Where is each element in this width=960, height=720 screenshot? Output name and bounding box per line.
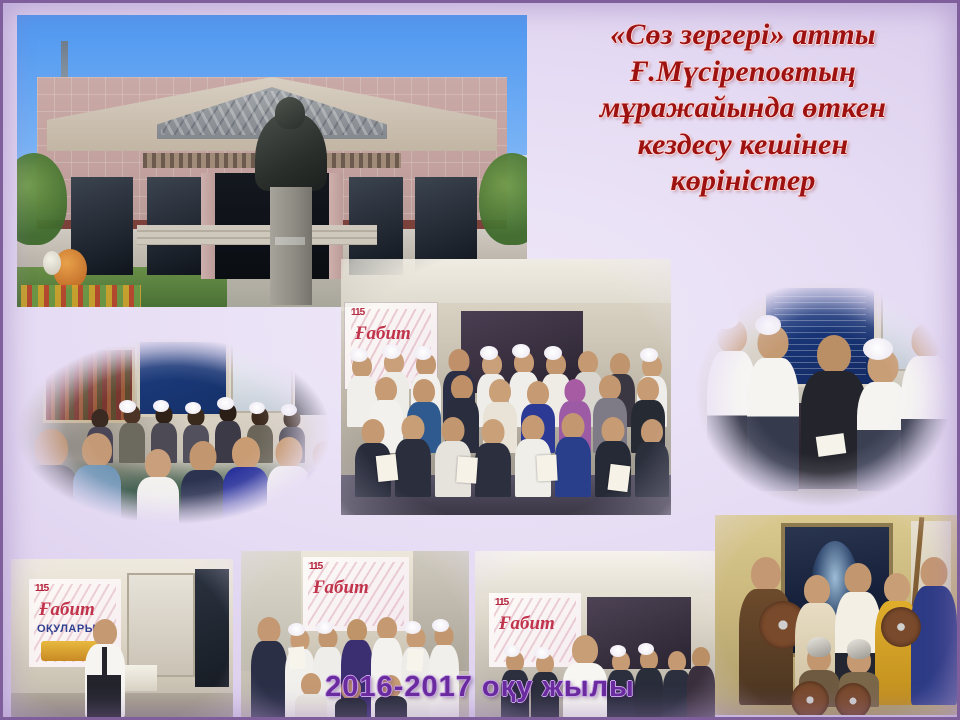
diploma: [376, 454, 399, 482]
person: [223, 437, 269, 529]
banner-number: 115: [495, 597, 508, 608]
page-title: «Сөз зергері» атты Ғ.Мүсіреповтың мұража…: [533, 17, 953, 200]
title-line-5: көріністер: [533, 163, 953, 200]
schoolgirl: [747, 325, 799, 491]
book-being-signed: [816, 433, 847, 457]
person: [181, 441, 225, 529]
shield: [881, 607, 921, 647]
academic-year-caption: 2016-2017 оқу жылы: [3, 671, 957, 704]
banner-name: Ғабит: [355, 323, 411, 345]
person: [25, 429, 77, 525]
presentation-slide: 115 Ғабит: [0, 0, 960, 720]
person: [137, 449, 179, 529]
person: [475, 419, 511, 497]
dark-cabinet: [195, 569, 229, 687]
helmet: [847, 639, 871, 659]
diploma: [536, 454, 557, 481]
person: [555, 413, 591, 497]
entrance-steps: [137, 225, 377, 245]
title-line-1: «Сөз зергері» атты: [533, 17, 953, 54]
diploma: [607, 464, 630, 492]
diploma: [456, 456, 478, 483]
person: [73, 433, 121, 525]
banner-number: 115: [309, 561, 322, 572]
helmet: [807, 637, 831, 657]
diploma: [288, 646, 306, 669]
person: [635, 419, 669, 497]
title-line-4: кездесу кешінен: [533, 127, 953, 164]
autograph-photo: [689, 275, 959, 513]
audience-photo: [9, 333, 339, 529]
title-line-3: мұражайында өткен: [533, 90, 953, 127]
ceiling: [475, 551, 715, 593]
photo-panel: [295, 349, 337, 415]
diploma: [406, 648, 423, 671]
playground-figure: [53, 249, 87, 289]
banner-name: Ғабит: [39, 599, 95, 621]
banner-name: Ғабит: [313, 577, 369, 599]
banner-name: Ғабит: [499, 613, 555, 635]
exhibit-shelf: [127, 573, 195, 677]
gabit-musirepov-bust: [255, 113, 327, 191]
banner-number: 115: [351, 307, 364, 318]
monument-pedestal: [270, 187, 312, 305]
group-photo: 115 Ғабит: [341, 259, 671, 515]
person: [305, 441, 339, 529]
monument-plaque: [275, 237, 305, 245]
person: [395, 415, 431, 497]
title-line-2: Ғ.Мүсіреповтың: [533, 54, 953, 91]
schoolgirl: [901, 323, 953, 493]
flower-bed: [21, 285, 141, 307]
banner-number: 115: [35, 583, 48, 594]
